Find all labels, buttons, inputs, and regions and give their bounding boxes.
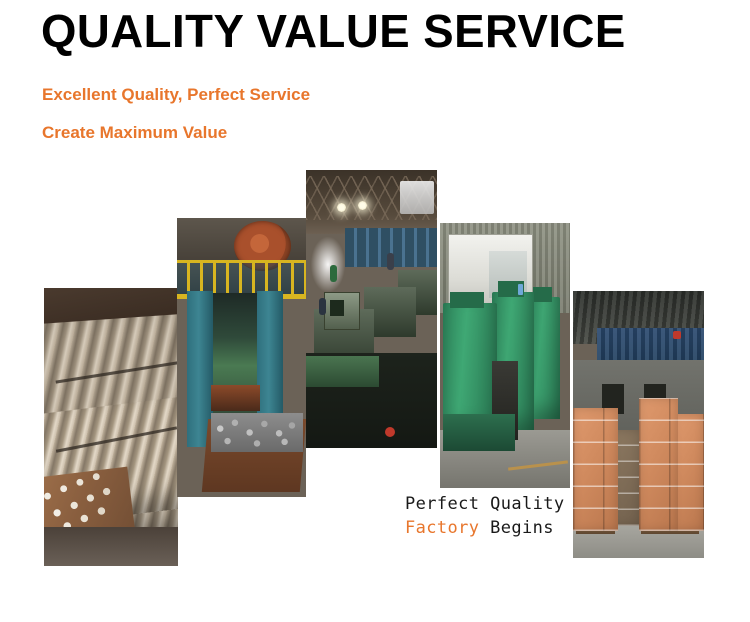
slogan-line-2: Factory Begins	[405, 516, 565, 540]
slogan-accent-word: Factory	[405, 518, 479, 538]
photo-machine-shop	[306, 170, 437, 448]
forging-press-ram-core	[213, 293, 257, 433]
green-machines-water-bottle	[518, 284, 523, 295]
promo-banner: QUALITY VALUE SERVICE Excellent Quality,…	[0, 0, 750, 622]
green-machine-far-cap	[533, 287, 552, 302]
green-machines-base	[443, 414, 516, 451]
slogan-overlay: Perfect Quality Factory Begins	[405, 492, 565, 540]
photo-packed-cartons	[573, 291, 704, 558]
green-machine-near-cap	[450, 292, 484, 308]
machine-shop-ceiling-fan	[400, 181, 434, 214]
machine-shop-worker-1	[330, 265, 337, 282]
machine-shop-green-bench	[306, 356, 379, 387]
machine-shop-control-screen	[330, 300, 344, 317]
machine-shop-lamp-right	[358, 201, 367, 210]
packed-cartons-artwork	[573, 291, 704, 558]
packed-cartons-red-hoist	[673, 331, 681, 339]
steel-bars-artwork	[44, 288, 178, 566]
machine-shop-emergency-stop-button	[385, 427, 395, 437]
forging-press-anvil	[211, 385, 260, 410]
photo-forging-press	[177, 218, 306, 497]
machine-shop-artwork	[306, 170, 437, 448]
slogan-line-1: Perfect Quality	[405, 492, 565, 516]
page-title: QUALITY VALUE SERVICE	[41, 4, 714, 58]
machine-shop-control-panel	[324, 292, 360, 330]
machine-shop-worker-3	[387, 253, 394, 270]
forging-press-artwork	[177, 218, 306, 497]
slogan-line-2-rest: Begins	[479, 518, 553, 538]
machine-shop-worker-2	[319, 298, 326, 315]
subtitle-excellent-quality: Excellent Quality, Perfect Service	[42, 85, 310, 105]
forging-press-forged-blanks	[211, 413, 304, 452]
packed-cartons-stack-left	[573, 408, 618, 531]
packed-cartons-stack-right	[639, 398, 678, 532]
photo-steel-round-bar-bundle	[44, 288, 178, 566]
steel-bars-floor	[44, 527, 178, 566]
photo-green-machines	[440, 223, 570, 488]
machine-shop-window-glare	[311, 237, 345, 293]
subtitle-create-maximum-value: Create Maximum Value	[42, 123, 227, 143]
green-machines-artwork	[440, 223, 570, 488]
